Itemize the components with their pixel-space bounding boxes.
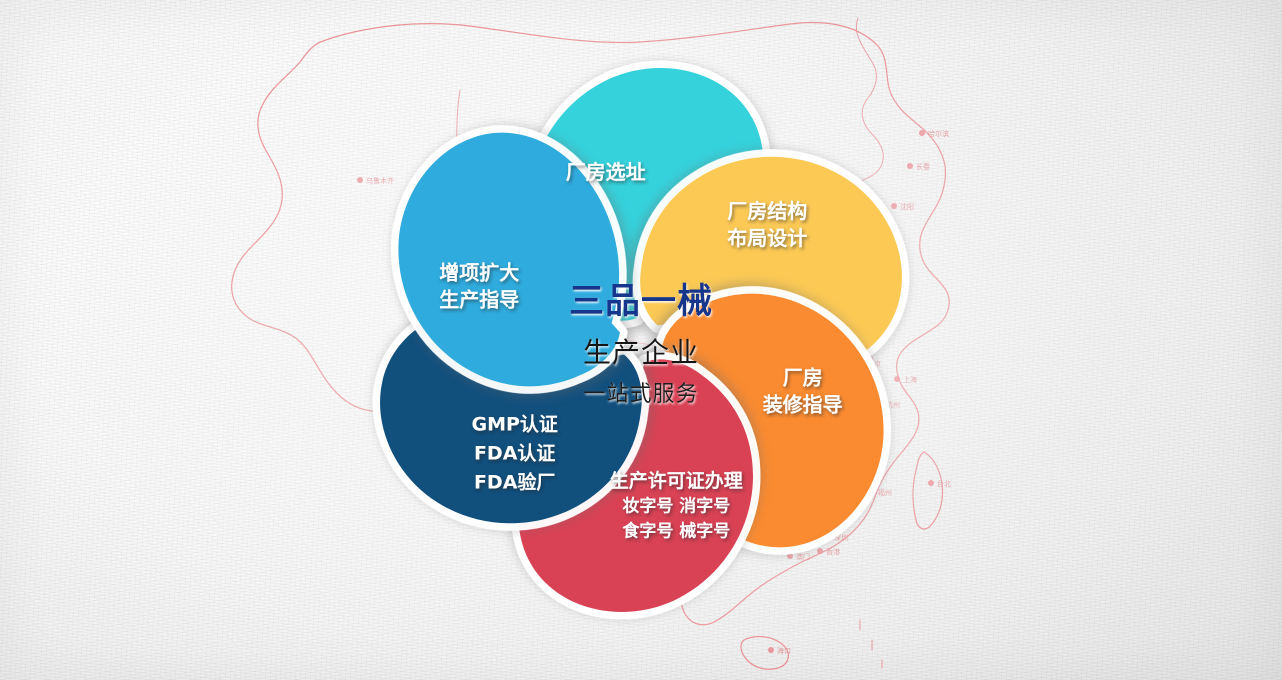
petal-label-line: 厂房选址 (566, 160, 646, 184)
petal-label-line: FDA验厂 (474, 470, 555, 493)
infographic-canvas: 哈尔滨长春沈阳北京济南郑州南京上海武汉杭州福州广州深圳台北香港澳门海口成都重庆西… (0, 0, 1282, 680)
petal-label-line: 生产指导 (439, 288, 519, 312)
center-text-block: 三品一械 生产企业 一站式服务 (569, 282, 713, 407)
petal-label-line: FDA认证 (474, 441, 555, 464)
petal-label-line: GMP认证 (471, 412, 557, 435)
petal-label-line: 装修指导 (762, 393, 843, 417)
petal-label-line: 生产许可证办理 (610, 469, 743, 492)
petal-label-line: 食字号 械字号 (622, 520, 730, 541)
center-subtitle: 生产企业 (583, 336, 699, 369)
petal-label-gmp-fda-certification: GMP认证FDA认证FDA验厂 (471, 412, 557, 493)
petal-label-line: 厂房结构 (727, 199, 807, 223)
petal-label-factory-site-selection: 厂房选址 (566, 160, 646, 184)
petal-label-line: 妆字号 消字号 (622, 495, 730, 516)
center-title: 三品一械 (569, 282, 713, 322)
petal-label-line: 厂房 (783, 366, 823, 390)
petal-label-line: 增项扩大 (439, 261, 519, 285)
petal-label-line: 布局设计 (727, 226, 807, 250)
center-tagline: 一站式服务 (583, 382, 698, 407)
petal-wheel: 厂房选址厂房结构布局设计厂房装修指导生产许可证办理妆字号 消字号食字号 械字号G… (0, 0, 1282, 680)
petal-label-production-license-processing: 生产许可证办理妆字号 消字号食字号 械字号 (610, 469, 743, 542)
